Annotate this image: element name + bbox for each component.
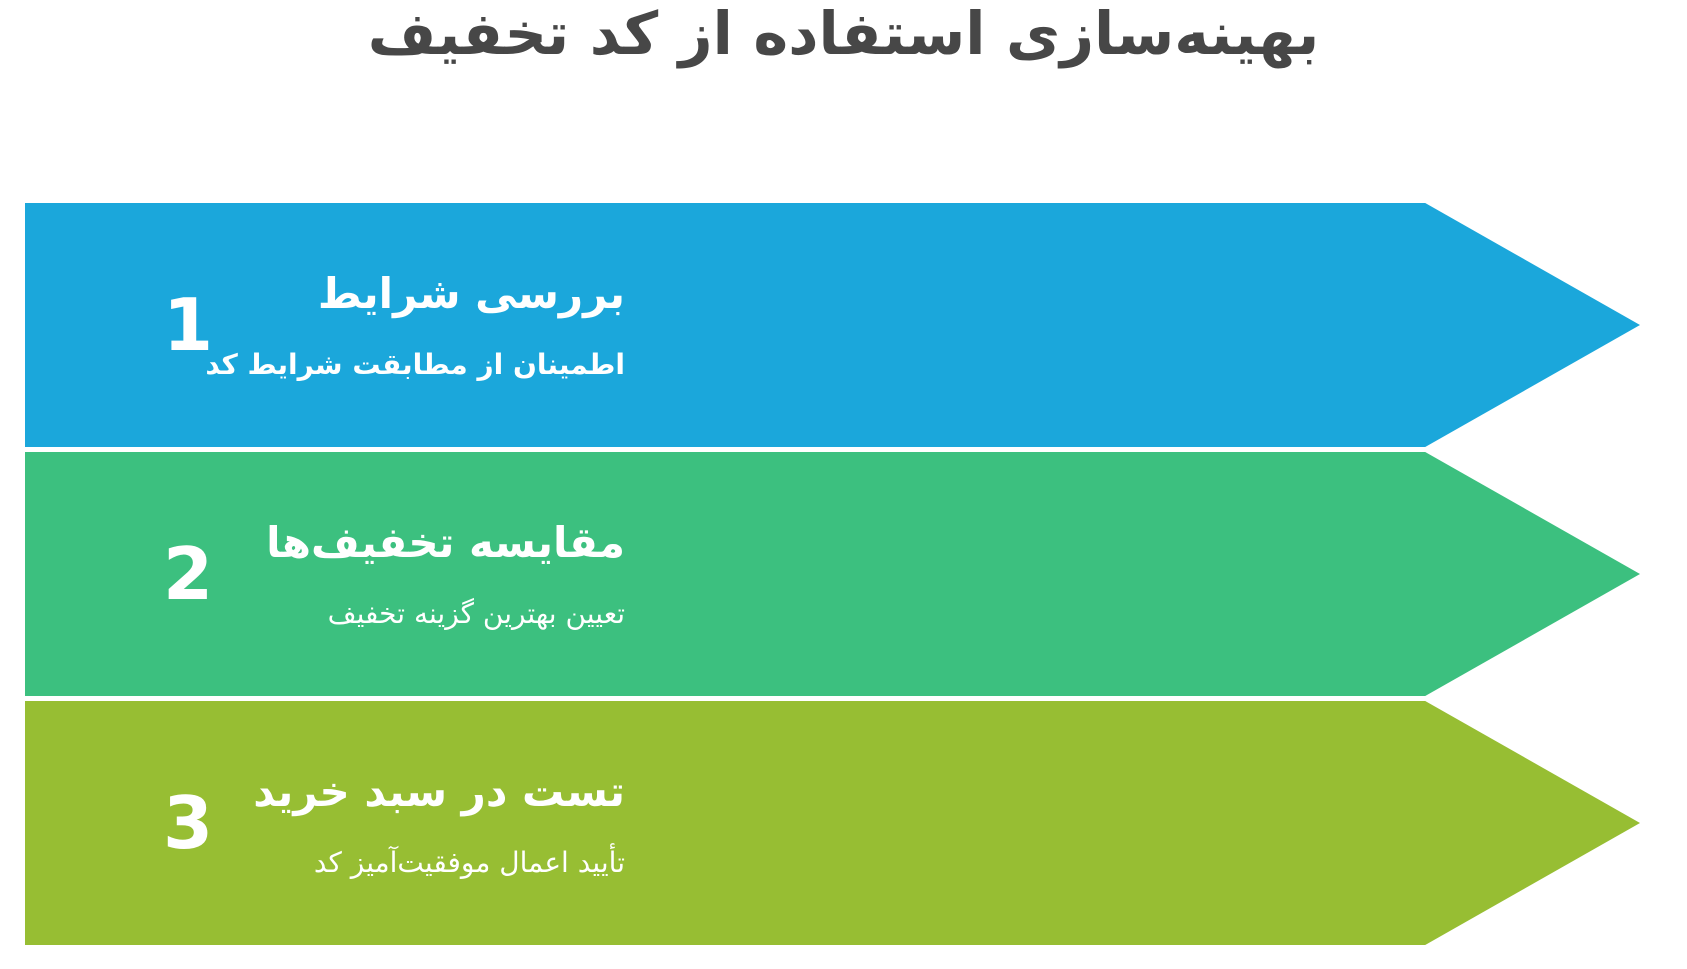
step-number-badge: 3 [143, 787, 233, 859]
process-step-2[interactable]: 2 مقایسه تخفیف‌ها تعیین بهترین گزینه تخف… [25, 452, 1640, 696]
step-text-block: مقایسه تخفیف‌ها تعیین بهترین گزینه تخفیف [265, 515, 625, 633]
process-step-3[interactable]: 3 تست در سبد خرید تأیید اعمال موفقیت‌آمی… [25, 701, 1640, 945]
step-text-block: تست در سبد خرید تأیید اعمال موفقیت‌آمیز … [265, 764, 625, 882]
step-heading: مقایسه تخفیف‌ها [265, 515, 625, 572]
process-steps-list: 1 بررسی شرایط اطمینان از مطابقت شرایط کد… [25, 203, 1640, 963]
slide-canvas: بهینه‌سازی استفاده از کد تخفیف 1 بررسی ش… [0, 0, 1687, 969]
process-step-1[interactable]: 1 بررسی شرایط اطمینان از مطابقت شرایط کد [25, 203, 1640, 447]
step-text-block: بررسی شرایط اطمینان از مطابقت شرایط کد [265, 266, 625, 384]
step-subtitle: اطمینان از مطابقت شرایط کد [265, 345, 625, 384]
step-number-badge: 2 [143, 538, 233, 610]
step-subtitle: تأیید اعمال موفقیت‌آمیز کد [265, 843, 625, 882]
step-heading: بررسی شرایط [265, 266, 625, 323]
step-subtitle: تعیین بهترین گزینه تخفیف [265, 594, 625, 633]
step-heading: تست در سبد خرید [265, 764, 625, 821]
page-title: بهینه‌سازی استفاده از کد تخفیف [0, 0, 1687, 73]
